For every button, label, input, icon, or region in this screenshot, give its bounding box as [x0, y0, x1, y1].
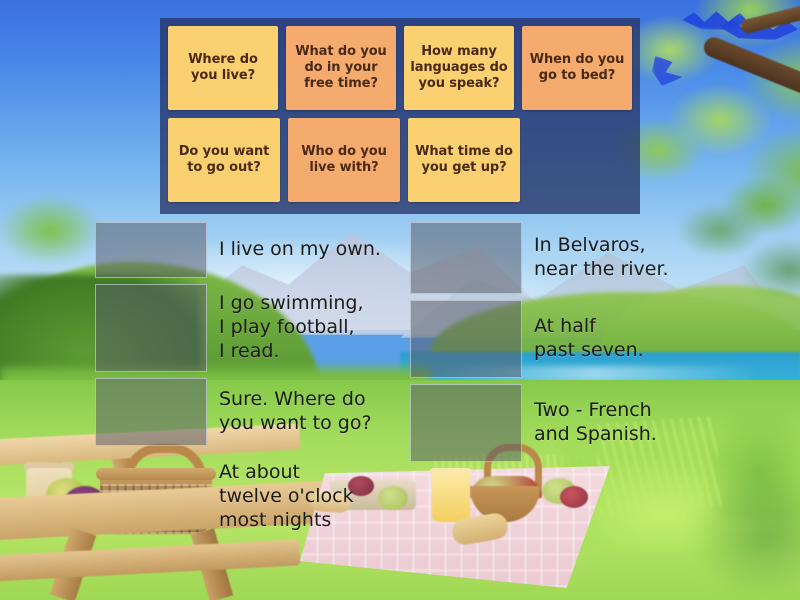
answer-text: At half past seven. — [534, 315, 644, 363]
question-row-2: Do you want to go out? Who do you live w… — [168, 118, 632, 202]
answer-text: In Belvaros, near the river. — [534, 234, 669, 282]
answer-text: Sure. Where do you want to go? — [219, 388, 372, 436]
answer-row: Sure. Where do you want to go? — [95, 378, 372, 446]
answer-row: I live on my own. — [95, 222, 381, 278]
drop-zone[interactable] — [410, 384, 522, 462]
tree-branch-2 — [740, 0, 800, 35]
answer-text: I go swimming, I play football, I read. — [219, 292, 364, 364]
answer-row: I go swimming, I play football, I read. — [95, 284, 364, 372]
question-card-when-go-to-bed[interactable]: When do you go to bed? — [522, 26, 632, 110]
answer-row: Two - French and Spanish. — [410, 384, 657, 462]
answers-area: I live on my own. I go swimming, I play … — [0, 214, 800, 600]
answer-row: At half past seven. — [410, 300, 644, 378]
tree-branch — [701, 34, 800, 101]
answer-row: At about twelve o'clock most nights — [95, 452, 354, 542]
drop-zone[interactable] — [95, 284, 207, 372]
sky-gap-2 — [720, 18, 798, 40]
drop-zone[interactable] — [410, 222, 522, 294]
answer-text: Two - French and Spanish. — [534, 399, 657, 447]
question-card-do-you-want-to-go-out[interactable]: Do you want to go out? — [168, 118, 280, 202]
answer-row: In Belvaros, near the river. — [410, 222, 669, 294]
question-card-free-time[interactable]: What do you do in your free time? — [286, 26, 396, 110]
question-card-where-do-you-live[interactable]: Where do you live? — [168, 26, 278, 110]
drop-zone[interactable] — [95, 378, 207, 446]
drop-zone[interactable] — [410, 300, 522, 378]
answer-text: I live on my own. — [219, 238, 381, 262]
question-card-what-time-get-up[interactable]: What time do you get up? — [408, 118, 520, 202]
answer-text: At about twelve o'clock most nights — [219, 461, 354, 533]
question-cards-panel: Where do you live? What do you do in you… — [160, 18, 640, 214]
sky-gap-1 — [682, 10, 748, 30]
question-row-1: Where do you live? What do you do in you… — [168, 26, 632, 110]
sky-gap-3 — [652, 56, 686, 86]
question-card-how-many-languages[interactable]: How many languages do you speak? — [404, 26, 514, 110]
question-card-who-do-you-live-with[interactable]: Who do you live with? — [288, 118, 400, 202]
drop-zone[interactable] — [95, 222, 207, 278]
activity-stage: Where do you live? What do you do in you… — [0, 0, 800, 600]
